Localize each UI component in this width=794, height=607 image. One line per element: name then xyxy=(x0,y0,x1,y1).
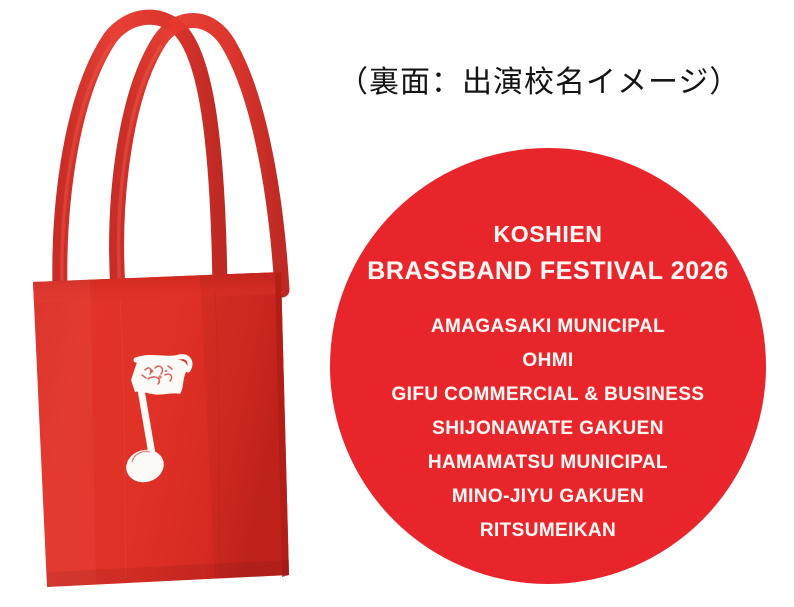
school-name-item: SHIJONAWATE GAKUEN xyxy=(330,419,766,438)
school-name-item: MINO-JIYU GAKUEN xyxy=(330,487,766,506)
back-side-caption: （裏面：出演校名イメージ） xyxy=(338,62,740,104)
tote-handle-back xyxy=(60,17,220,290)
event-title-line-2: BRASSBAND FESTIVAL 2026 xyxy=(330,259,766,284)
school-name-item: RITSUMEIKAN xyxy=(330,521,766,540)
tote-bag-product-image xyxy=(0,0,330,607)
school-name-item: HAMAMATSU MUNICIPAL xyxy=(330,453,766,472)
event-title-line-1: KOSHIEN xyxy=(330,223,766,246)
school-name-item: OHMI xyxy=(330,351,766,370)
school-name-item: GIFU COMMERCIAL & BUSINESS xyxy=(330,385,766,404)
school-name-item: AMAGASAKI MUNICIPAL xyxy=(330,317,766,336)
school-name-list: AMAGASAKI MUNICIPAL OHMI GIFU COMMERCIAL… xyxy=(330,317,766,540)
back-print-circle-graphic: KOSHIEN BRASSBAND FESTIVAL 2026 AMAGASAK… xyxy=(330,148,766,584)
tote-bag-body xyxy=(33,272,289,587)
